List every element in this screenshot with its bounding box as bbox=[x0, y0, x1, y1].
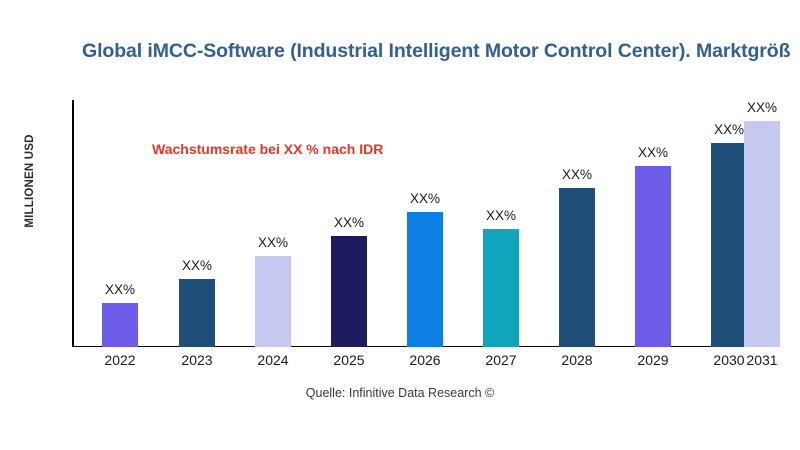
bar-group[interactable]: XX% bbox=[179, 279, 215, 347]
bar-group[interactable]: XX% bbox=[331, 236, 367, 347]
x-tick-2024: 2024 bbox=[233, 352, 313, 368]
bar-value-label: XX% bbox=[80, 282, 160, 297]
bar-group[interactable]: XX% bbox=[255, 256, 291, 347]
bar-chart-figure: Global iMCC-Software (Industrial Intelli… bbox=[0, 0, 800, 450]
bar-value-label: XX% bbox=[233, 235, 313, 250]
bar-group[interactable]: XX% bbox=[559, 188, 595, 347]
bar-value-label: XX% bbox=[613, 145, 693, 160]
x-tick-2026: 2026 bbox=[385, 352, 465, 368]
bar-2025[interactable] bbox=[331, 236, 367, 347]
x-tick-2028: 2028 bbox=[537, 352, 617, 368]
bar-2031[interactable] bbox=[744, 121, 780, 347]
x-tick-2029: 2029 bbox=[613, 352, 693, 368]
source-caption: Quelle: Infinitive Data Research © bbox=[0, 386, 800, 400]
bar-value-label: XX% bbox=[537, 167, 617, 182]
bar-group[interactable]: XX% bbox=[102, 303, 138, 347]
bar-value-label: XX% bbox=[461, 208, 541, 223]
growth-rate-annotation: Wachstumsrate bei XX % nach IDR bbox=[152, 141, 383, 157]
x-tick-2031: 2031 bbox=[722, 352, 800, 368]
bar-2028[interactable] bbox=[559, 188, 595, 347]
bar-2024[interactable] bbox=[255, 256, 291, 347]
bar-2026[interactable] bbox=[407, 212, 443, 347]
bar-group[interactable]: XX% bbox=[483, 229, 519, 347]
bar-2022[interactable] bbox=[102, 303, 138, 347]
bar-value-label: XX% bbox=[385, 191, 465, 206]
bar-group[interactable]: XX% bbox=[635, 166, 671, 347]
plot-area: XX%2022XX%2023XX%2024XX%2025XX%2026XX%20… bbox=[0, 0, 800, 450]
bar-2029[interactable] bbox=[635, 166, 671, 347]
bar-group[interactable]: XX% bbox=[711, 143, 747, 347]
x-tick-2025: 2025 bbox=[309, 352, 389, 368]
bar-value-label: XX% bbox=[722, 100, 800, 115]
bar-2030[interactable] bbox=[711, 143, 747, 347]
bar-group[interactable]: XX% bbox=[744, 121, 780, 347]
x-tick-2027: 2027 bbox=[461, 352, 541, 368]
x-tick-2023: 2023 bbox=[157, 352, 237, 368]
x-tick-2022: 2022 bbox=[80, 352, 160, 368]
bar-value-label: XX% bbox=[157, 258, 237, 273]
bar-value-label: XX% bbox=[309, 215, 389, 230]
bar-2027[interactable] bbox=[483, 229, 519, 347]
bar-group[interactable]: XX% bbox=[407, 212, 443, 347]
bar-2023[interactable] bbox=[179, 279, 215, 347]
